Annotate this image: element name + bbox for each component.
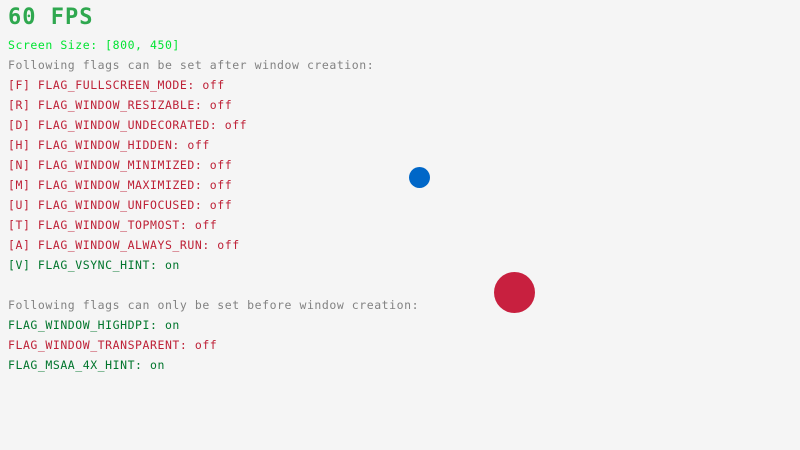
flag-row-window-undecorated[interactable]: [D] FLAG_WINDOW_UNDECORATED: off bbox=[8, 119, 247, 132]
flag-row-window-minimized[interactable]: [N] FLAG_WINDOW_MINIMIZED: off bbox=[8, 159, 232, 172]
flag-row-window-transparent: FLAG_WINDOW_TRANSPARENT: off bbox=[8, 339, 217, 352]
flag-row-window-highdpi: FLAG_WINDOW_HIGHDPI: on bbox=[8, 319, 180, 332]
screen-size-label: Screen Size: [800, 450] bbox=[8, 39, 180, 52]
flag-row-window-maximized[interactable]: [M] FLAG_WINDOW_MAXIMIZED: off bbox=[8, 179, 232, 192]
flag-row-vsync-hint[interactable]: [V] FLAG_VSYNC_HINT: on bbox=[8, 259, 180, 272]
creation-flags-heading: Following flags can only be set before w… bbox=[8, 299, 419, 312]
flag-row-msaa-4x-hint: FLAG_MSAA_4X_HINT: on bbox=[8, 359, 165, 372]
flag-row-window-unfocused[interactable]: [U] FLAG_WINDOW_UNFOCUSED: off bbox=[8, 199, 232, 212]
red-circle bbox=[494, 272, 535, 313]
raylib-window-canvas: 60 FPS Screen Size: [800, 450] Following… bbox=[0, 0, 800, 450]
blue-circle bbox=[409, 167, 430, 188]
flag-row-window-topmost[interactable]: [T] FLAG_WINDOW_TOPMOST: off bbox=[8, 219, 217, 232]
fps-counter: 60 FPS bbox=[8, 5, 93, 31]
flag-row-window-resizable[interactable]: [R] FLAG_WINDOW_RESIZABLE: off bbox=[8, 99, 232, 112]
flag-row-fullscreen-mode[interactable]: [F] FLAG_FULLSCREEN_MODE: off bbox=[8, 79, 225, 92]
flag-row-window-always-run[interactable]: [A] FLAG_WINDOW_ALWAYS_RUN: off bbox=[8, 239, 240, 252]
runtime-flags-heading: Following flags can be set after window … bbox=[8, 59, 374, 72]
flag-row-window-hidden[interactable]: [H] FLAG_WINDOW_HIDDEN: off bbox=[8, 139, 210, 152]
